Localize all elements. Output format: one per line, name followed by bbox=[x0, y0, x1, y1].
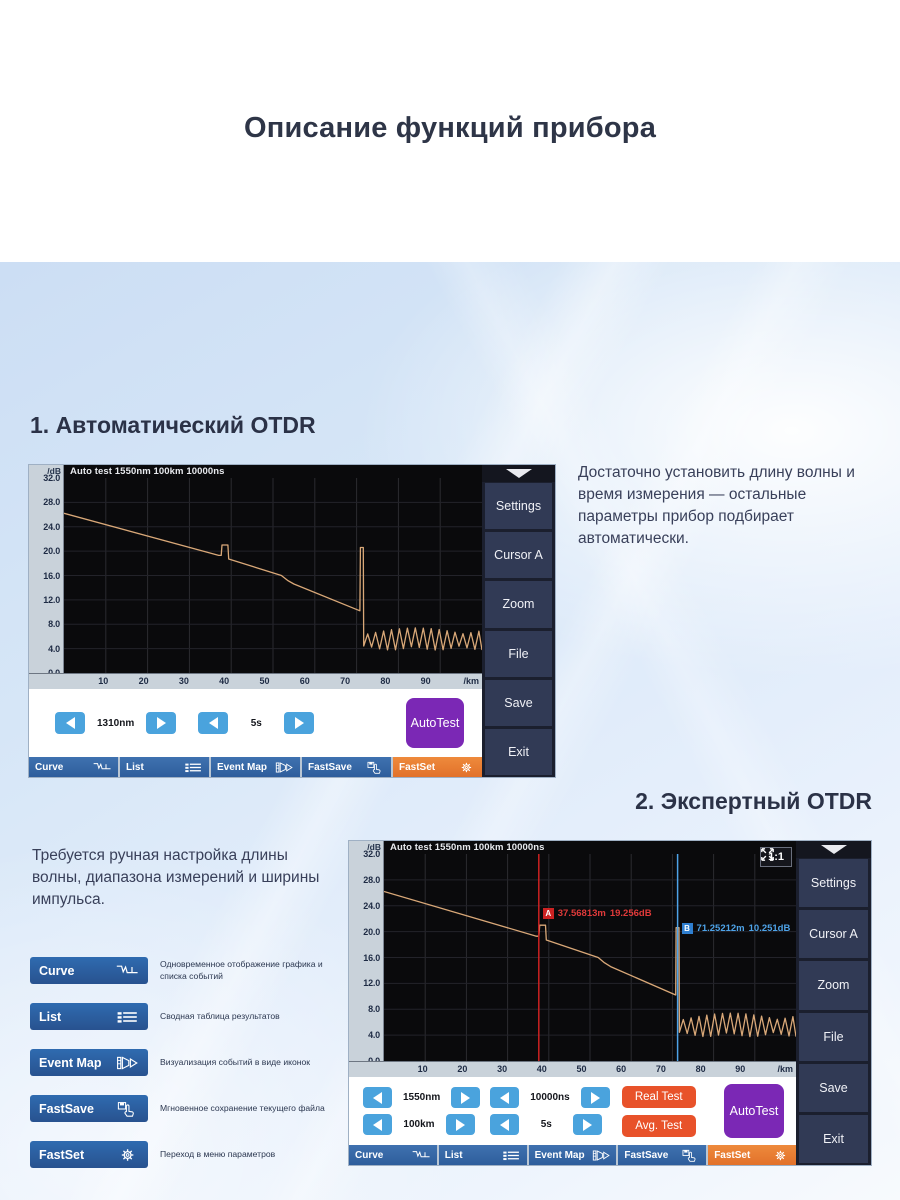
x-axis-tick: 90 bbox=[735, 1064, 745, 1074]
gear-icon bbox=[116, 1147, 139, 1163]
legend-button-fastsave[interactable]: FastSave bbox=[30, 1095, 148, 1122]
pulse-value: 10000ns bbox=[524, 1092, 575, 1103]
duration-prev-button[interactable] bbox=[198, 712, 228, 734]
y-axis-tick: 28.0 bbox=[363, 875, 380, 885]
tab-curve[interactable]: Curve bbox=[29, 757, 118, 777]
menu-item-settings[interactable]: Settings bbox=[796, 858, 871, 909]
legend-item: CurveОдновременное отображение графика и… bbox=[30, 957, 330, 984]
pulse-next-button[interactable] bbox=[581, 1087, 610, 1108]
plot-title: Auto test 1550nm 100km 10000ns bbox=[70, 466, 225, 477]
y-axis-tick: 28.0 bbox=[43, 497, 60, 507]
list-icon bbox=[116, 1009, 139, 1025]
tab-list[interactable]: List bbox=[120, 757, 209, 777]
gear-icon bbox=[771, 1149, 790, 1162]
plot-area[interactable]: Auto test 1550nm 100km 10000ns 1:1 A 37.… bbox=[383, 841, 796, 1061]
fastsave-icon bbox=[366, 761, 385, 774]
menu-item-exit[interactable]: Exit bbox=[482, 728, 555, 777]
menu-item-zoom[interactable]: Zoom bbox=[482, 580, 555, 629]
tab-fastsave[interactable]: FastSave bbox=[302, 757, 391, 777]
avg-test-button[interactable]: Avg. Test bbox=[622, 1115, 696, 1137]
tab-label: FastSave bbox=[624, 1150, 668, 1161]
y-axis-tick: 24.0 bbox=[43, 522, 60, 532]
y-axis-tick: 20.0 bbox=[43, 546, 60, 556]
chevron-down-icon bbox=[506, 469, 532, 478]
cursor-a-distance: 37.56813m bbox=[558, 908, 606, 919]
y-axis: /dB 0.04.08.012.016.020.024.028.032.0 bbox=[29, 465, 63, 673]
cursor-b-loss: 10.251dB bbox=[749, 923, 791, 934]
duration-value: 5s bbox=[524, 1119, 568, 1130]
page-title: Описание функций прибора bbox=[244, 112, 656, 145]
legend-button-fastset[interactable]: FastSet bbox=[30, 1141, 148, 1168]
legend-item: Event MapВизуализация событий в виде ико… bbox=[30, 1049, 310, 1076]
wavelength-next-button[interactable] bbox=[451, 1087, 480, 1108]
x-axis-tick: 70 bbox=[340, 676, 350, 686]
menu-item-save[interactable]: Save bbox=[482, 679, 555, 728]
x-axis-tick: 20 bbox=[457, 1064, 467, 1074]
menu-item-cursor-a[interactable]: Cursor A bbox=[796, 909, 871, 960]
curve-icon bbox=[93, 761, 112, 774]
legend-button-event-map[interactable]: Event Map bbox=[30, 1049, 148, 1076]
control-strip-auto[interactable]: 1310nm 5s AutoTest bbox=[29, 689, 482, 757]
y-axis-tick: 16.0 bbox=[43, 571, 60, 581]
tab-event-map[interactable]: Event Map bbox=[211, 757, 300, 777]
cursor-a-badge: A bbox=[543, 908, 554, 919]
otdr-screen-body: /dB 0.04.08.012.016.020.024.028.032.0 Au… bbox=[29, 465, 482, 777]
tab-label: Event Map bbox=[535, 1150, 585, 1161]
tab-list[interactable]: List bbox=[439, 1145, 527, 1165]
side-menu-expert[interactable]: Settings Cursor A Zoom File Save Exit bbox=[796, 841, 871, 1165]
x-axis-tick: 10 bbox=[418, 1064, 428, 1074]
cursor-b-readout: B 71.25212m 10.251dB bbox=[682, 923, 791, 934]
autotest-button[interactable]: AutoTest bbox=[724, 1084, 784, 1138]
y-axis-tick: 16.0 bbox=[363, 953, 380, 963]
plot-title: Auto test 1550nm 100km 10000ns bbox=[390, 842, 545, 853]
legend-button-label: FastSave bbox=[39, 1102, 94, 1116]
x-axis-tick: 60 bbox=[300, 676, 310, 686]
x-axis-tick: 10 bbox=[98, 676, 108, 686]
tab-label: List bbox=[445, 1150, 463, 1161]
x-axis: /km 102030405060708090 bbox=[349, 1061, 796, 1077]
range-next-button[interactable] bbox=[446, 1114, 475, 1135]
menu-item-save[interactable]: Save bbox=[796, 1063, 871, 1114]
x-axis-tick: 40 bbox=[219, 676, 229, 686]
x-axis-tick: 30 bbox=[179, 676, 189, 686]
fastsave-icon bbox=[681, 1149, 700, 1162]
y-axis-tick: 32.0 bbox=[43, 473, 60, 483]
otdr-screen-body: /dB 0.04.08.012.016.020.024.028.032.0 Au… bbox=[349, 841, 796, 1165]
list-icon bbox=[184, 761, 203, 774]
wavelength-prev-button[interactable] bbox=[363, 1087, 392, 1108]
legend-item: FastSaveМгновенное сохранение текущего ф… bbox=[30, 1095, 325, 1122]
header-band: Описание функций прибора bbox=[0, 0, 900, 262]
curve-icon bbox=[116, 963, 139, 979]
cursor-a-readout: A 37.56813m 19.256dB bbox=[543, 908, 652, 919]
tab-label: Curve bbox=[35, 762, 63, 773]
otdr-screen-expert[interactable]: /dB 0.04.08.012.016.020.024.028.032.0 Au… bbox=[348, 840, 872, 1166]
cursor-b-badge: B bbox=[682, 923, 693, 934]
wavelength-value: 1310nm bbox=[91, 718, 140, 729]
event-map-icon bbox=[116, 1055, 139, 1071]
section-paragraph-1: Достаточно установить длину волны и врем… bbox=[578, 462, 888, 550]
y-axis-tick: 4.0 bbox=[368, 1030, 380, 1040]
legend-button-curve[interactable]: Curve bbox=[30, 957, 148, 984]
menu-collapse-handle[interactable] bbox=[482, 465, 555, 482]
x-axis-tick: 40 bbox=[537, 1064, 547, 1074]
event-map-icon bbox=[592, 1149, 611, 1162]
y-axis-tick: 8.0 bbox=[368, 1004, 380, 1014]
otdr-screen-auto[interactable]: /dB 0.04.08.012.016.020.024.028.032.0 Au… bbox=[28, 464, 556, 778]
list-icon bbox=[502, 1149, 521, 1162]
legend-button-label: List bbox=[39, 1010, 61, 1024]
trace-svg bbox=[384, 841, 796, 1061]
menu-item-file[interactable]: File bbox=[482, 630, 555, 679]
duration-prev-button[interactable] bbox=[490, 1114, 519, 1135]
legend-description: Мгновенное сохранение текущего файла bbox=[160, 1103, 325, 1115]
zoom-ratio-badge[interactable]: 1:1 bbox=[760, 847, 792, 867]
y-axis-tick: 12.0 bbox=[363, 978, 380, 988]
x-axis-tick: 60 bbox=[616, 1064, 626, 1074]
tab-event-map[interactable]: Event Map bbox=[529, 1145, 617, 1165]
chevron-down-icon bbox=[821, 845, 847, 854]
cursor-a-loss: 19.256dB bbox=[610, 908, 652, 919]
plot-area[interactable]: Auto test 1550nm 100km 10000ns bbox=[63, 465, 482, 673]
section-heading-2: 2. Экспертный OTDR bbox=[635, 788, 872, 815]
tab-label: List bbox=[126, 762, 144, 773]
x-axis-unit: /km bbox=[777, 1064, 793, 1074]
x-axis-tick: 70 bbox=[656, 1064, 666, 1074]
legend-item: FastSetПереход в меню параметров bbox=[30, 1141, 275, 1168]
x-axis-tick: 80 bbox=[696, 1064, 706, 1074]
y-axis-tick: 12.0 bbox=[43, 595, 60, 605]
legend-description: Визуализация событий в виде иконок bbox=[160, 1057, 310, 1069]
range-prev-button[interactable] bbox=[363, 1114, 392, 1135]
x-axis: /km 102030405060708090 bbox=[29, 673, 482, 689]
duration-next-button[interactable] bbox=[284, 712, 314, 734]
tab-fastset[interactable]: FastSet bbox=[708, 1145, 796, 1165]
tab-label: Event Map bbox=[217, 762, 267, 773]
tab-fastset[interactable]: FastSet bbox=[393, 757, 482, 777]
autotest-button[interactable]: AutoTest bbox=[406, 698, 464, 748]
side-menu-auto[interactable]: Settings Cursor A Zoom File Save Exit bbox=[482, 465, 555, 777]
wavelength-next-button[interactable] bbox=[146, 712, 176, 734]
tab-bar-auto[interactable]: CurveListEvent MapFastSaveFastSet bbox=[29, 757, 482, 777]
gear-icon bbox=[457, 761, 476, 774]
real-test-button[interactable]: Real Test bbox=[622, 1086, 696, 1108]
y-axis: /dB 0.04.08.012.016.020.024.028.032.0 bbox=[349, 841, 383, 1061]
y-axis-tick: 24.0 bbox=[363, 901, 380, 911]
legend-button-list[interactable]: List bbox=[30, 1003, 148, 1030]
fastsave-icon bbox=[116, 1101, 139, 1117]
menu-item-file[interactable]: File bbox=[796, 1012, 871, 1063]
legend-description: Сводная таблица результатов bbox=[160, 1011, 280, 1023]
section-heading-1: 1. Автоматический OTDR bbox=[30, 412, 316, 439]
y-axis-tick: 20.0 bbox=[363, 927, 380, 937]
duration-next-button[interactable] bbox=[573, 1114, 602, 1135]
tab-label: FastSave bbox=[308, 762, 352, 773]
x-axis-tick: 80 bbox=[380, 676, 390, 686]
tab-label: FastSet bbox=[399, 762, 435, 773]
wavelength-value: 1550nm bbox=[397, 1092, 446, 1103]
x-axis-tick: 20 bbox=[139, 676, 149, 686]
tab-label: Curve bbox=[355, 1150, 383, 1161]
legend-button-label: Event Map bbox=[39, 1056, 102, 1070]
legend-description: Переход в меню параметров bbox=[160, 1149, 275, 1161]
y-axis-tick: 4.0 bbox=[48, 644, 60, 654]
section-paragraph-2: Требуется ручная настройка длины волны, … bbox=[32, 845, 322, 911]
curve-icon bbox=[412, 1149, 431, 1162]
tab-fastsave[interactable]: FastSave bbox=[618, 1145, 706, 1165]
menu-item-cursor-a[interactable]: Cursor A bbox=[482, 531, 555, 580]
otdr-chart-auto[interactable]: /dB 0.04.08.012.016.020.024.028.032.0 Au… bbox=[29, 465, 482, 673]
menu-item-settings[interactable]: Settings bbox=[482, 482, 555, 531]
x-axis-unit: /km bbox=[463, 676, 479, 686]
trace-svg bbox=[64, 465, 482, 673]
event-map-icon bbox=[275, 761, 294, 774]
legend-button-label: FastSet bbox=[39, 1148, 84, 1162]
x-axis-tick: 30 bbox=[497, 1064, 507, 1074]
pulse-prev-button[interactable] bbox=[490, 1087, 519, 1108]
tab-curve[interactable]: Curve bbox=[349, 1145, 437, 1165]
otdr-chart-expert[interactable]: /dB 0.04.08.012.016.020.024.028.032.0 Au… bbox=[349, 841, 796, 1061]
fit-screen-icon bbox=[761, 848, 774, 861]
duration-value: 5s bbox=[234, 718, 278, 729]
y-axis-tick: 8.0 bbox=[48, 619, 60, 629]
tab-bar-expert[interactable]: CurveListEvent MapFastSaveFastSet bbox=[349, 1145, 796, 1165]
legend-button-label: Curve bbox=[39, 964, 74, 978]
wavelength-prev-button[interactable] bbox=[55, 712, 85, 734]
menu-item-zoom[interactable]: Zoom bbox=[796, 960, 871, 1011]
legend-item: ListСводная таблица результатов bbox=[30, 1003, 280, 1030]
x-axis-tick: 90 bbox=[421, 676, 431, 686]
y-axis-tick: 32.0 bbox=[363, 849, 380, 859]
range-value: 100km bbox=[397, 1119, 441, 1130]
cursor-b-distance: 71.25212m bbox=[697, 923, 745, 934]
x-axis-tick: 50 bbox=[576, 1064, 586, 1074]
control-strip-expert[interactable]: 1550nm 100km 10000ns 5s bbox=[349, 1077, 796, 1145]
legend-description: Одновременное отображение графика и спис… bbox=[160, 959, 330, 982]
x-axis-tick: 50 bbox=[259, 676, 269, 686]
tab-label: FastSet bbox=[714, 1150, 750, 1161]
menu-collapse-handle[interactable] bbox=[796, 841, 871, 858]
menu-item-exit[interactable]: Exit bbox=[796, 1114, 871, 1165]
